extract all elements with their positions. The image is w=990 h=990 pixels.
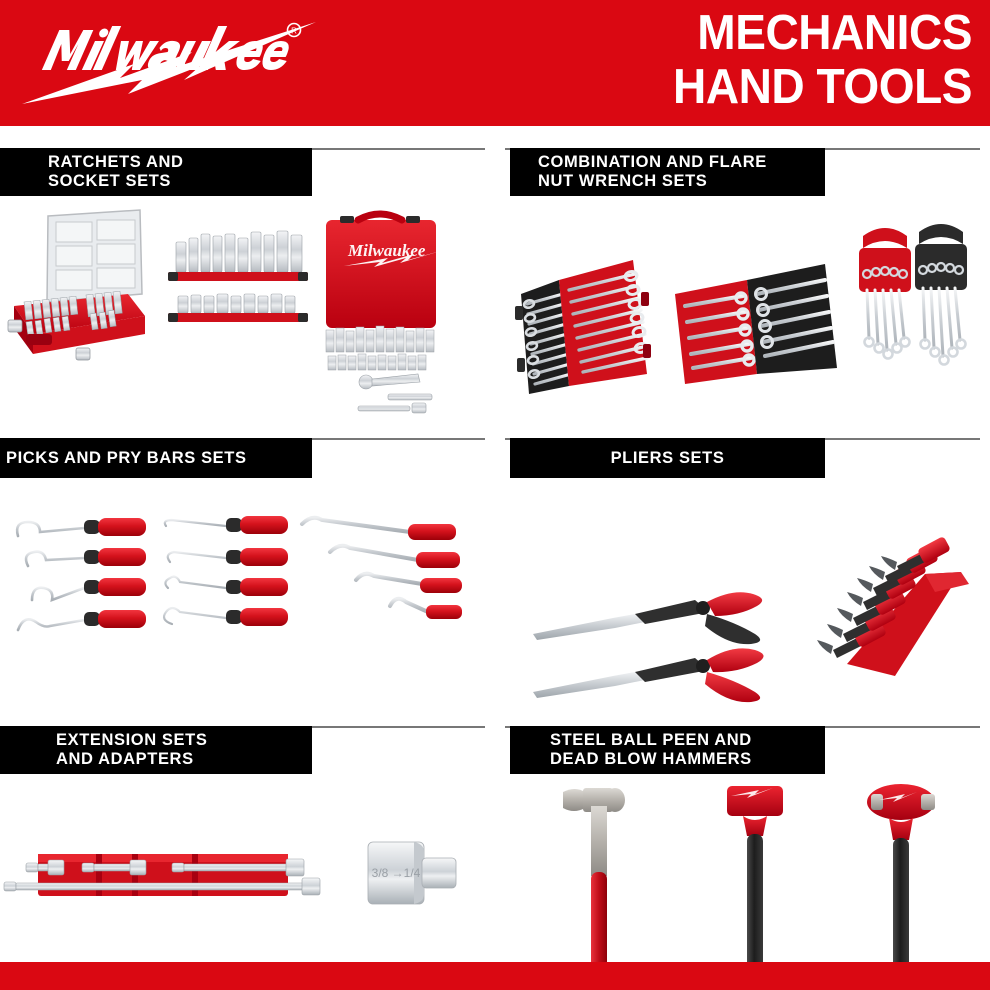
section-title-line-1: STEEL BALL PEEN AND — [550, 731, 825, 750]
snap-ring-pliers-set-rack — [817, 536, 969, 676]
flare-nut-wrench-tray-set — [675, 264, 837, 384]
section-title-line-2: NUT WRENCH SETS — [538, 172, 825, 191]
section-combination-and-flare-nut-wrench-sets: COMBINATION AND FLARE NUT WRENCH SETS — [495, 140, 990, 430]
logo-trademark: ® — [16, 118, 17, 119]
dead-blow-hammer-round-face — [867, 784, 935, 987]
section-products-image — [0, 488, 495, 718]
section-banner: RATCHETS AND SOCKET SETS — [0, 148, 312, 196]
section-extension-sets-and-adapters: EXTENSION SETS AND ADAPTERS — [0, 718, 495, 990]
page-title: MECHANICS HAND TOOLS — [446, 6, 972, 114]
section-banner: PICKS AND PRY BARS SETS — [0, 438, 312, 478]
svg-text:R: R — [291, 27, 297, 36]
closed-red-case-with-socket-set: Milwaukee — [326, 214, 444, 413]
catalog-page: R Milwaukee ® MECHANICS HAND TOOLS RATCH… — [0, 0, 990, 990]
socket-adapter: 3/8 →1/4 — [368, 842, 456, 904]
ratcheting-combination-wrench-tray-set — [515, 260, 651, 394]
section-title-line-1: COMBINATION AND FLARE — [538, 153, 825, 172]
section-title-line-1: PLIERS SETS — [510, 449, 825, 468]
section-title: COMBINATION AND FLARE NUT WRENCH SETS — [538, 153, 825, 191]
section-pliers-sets: PLIERS SETS — [495, 430, 990, 720]
section-banner: COMBINATION AND FLARE NUT WRENCH SETS — [510, 148, 825, 196]
ball-peen-hammer — [563, 788, 625, 980]
section-products-image — [495, 488, 990, 718]
section-title: PLIERS SETS — [510, 449, 825, 468]
adapter-size-label: 3/8 →1/4 — [372, 866, 421, 880]
page-footer-bar — [0, 962, 990, 990]
section-ratchets-and-socket-sets: RATCHETS AND SOCKET SETS — [0, 140, 495, 430]
hook-and-pick-set-4pc — [17, 518, 146, 630]
sections-grid: RATCHETS AND SOCKET SETS — [0, 140, 990, 962]
section-title-line-1: PICKS AND PRY BARS SETS — [6, 449, 312, 468]
section-products-image: Milwaukee — [0, 198, 495, 428]
socket-rail-shallow-sockets — [168, 294, 308, 322]
socket-extension-set-on-red-rail — [4, 854, 320, 896]
open-socket-set-case — [8, 210, 145, 360]
section-products-image: 3/8 →1/4 — [0, 776, 495, 990]
section-title-line-1: EXTENSION SETS — [56, 731, 312, 750]
section-title-line-2: AND ADAPTERS — [56, 750, 312, 769]
long-nose-pliers-pair — [533, 592, 764, 702]
section-title: RATCHETS AND SOCKET SETS — [48, 153, 312, 191]
section-picks-and-pry-bars-sets: PICKS AND PRY BARS SETS — [0, 430, 495, 720]
section-banner: EXTENSION SETS AND ADAPTERS — [0, 726, 312, 774]
socket-rail-deep-sockets — [168, 231, 308, 281]
page-title-line-2: HAND TOOLS — [446, 60, 972, 114]
section-banner: PLIERS SETS — [510, 438, 825, 478]
dead-blow-hammer-square-face — [727, 786, 783, 979]
section-title-line-2: DEAD BLOW HAMMERS — [550, 750, 825, 769]
precision-pick-set-4pc — [164, 516, 288, 626]
pry-bar-set-4pc — [302, 518, 462, 619]
milwaukee-logo: R Milwaukee ® — [16, 8, 336, 118]
logo-brand-name: Milwaukee — [16, 118, 17, 119]
page-header: R Milwaukee ® MECHANICS HAND TOOLS — [0, 0, 990, 126]
svg-text:Milwaukee: Milwaukee — [347, 241, 426, 260]
section-title: EXTENSION SETS AND ADAPTERS — [56, 731, 312, 769]
wrench-roll-organizers — [859, 224, 967, 365]
section-products-image — [495, 776, 990, 990]
section-steel-ball-peen-and-dead-blow-hammers: STEEL BALL PEEN AND DEAD BLOW HAMMERS — [495, 718, 990, 990]
section-title: STEEL BALL PEEN AND DEAD BLOW HAMMERS — [550, 731, 825, 769]
section-title: PICKS AND PRY BARS SETS — [6, 449, 312, 468]
section-title-line-2: SOCKET SETS — [48, 172, 312, 191]
page-title-line-1: MECHANICS — [446, 6, 972, 60]
section-banner: STEEL BALL PEEN AND DEAD BLOW HAMMERS — [510, 726, 825, 774]
section-products-image — [495, 198, 990, 428]
section-title-line-1: RATCHETS AND — [48, 153, 312, 172]
